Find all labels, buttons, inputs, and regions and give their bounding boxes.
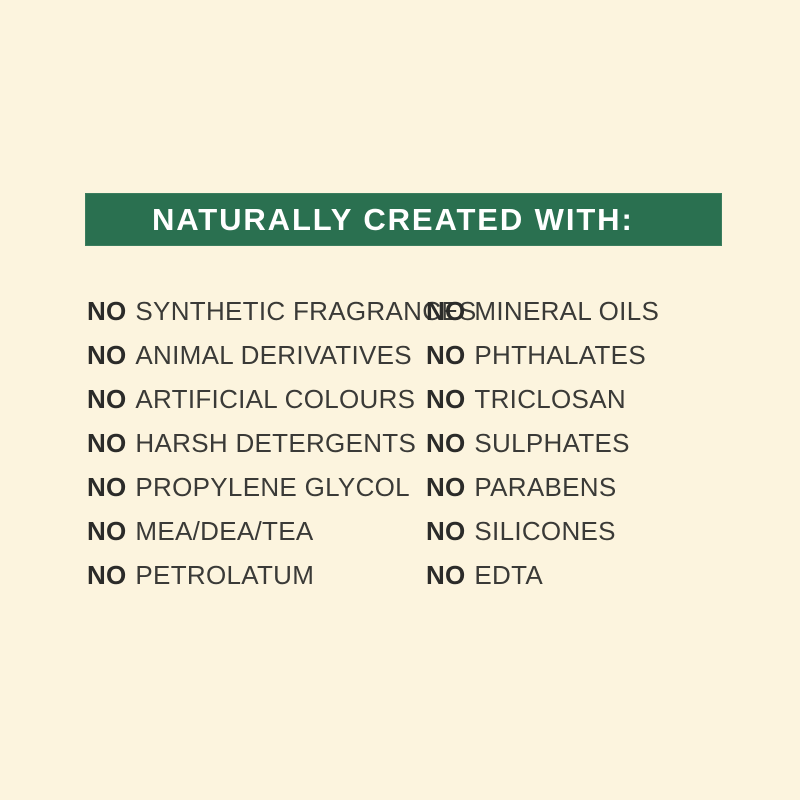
no-prefix: NO: [87, 386, 126, 412]
free-from-list: NO SYNTHETIC FRAGRANCES NO ANIMAL DERIVA…: [0, 289, 800, 597]
ingredient-label: SULPHATES: [474, 430, 629, 456]
list-item: NO ARTIFICIAL COLOURS: [87, 377, 413, 421]
ingredient-label: MEA/DEA/TEA: [135, 518, 313, 544]
page-title: NATURALLY CREATED WITH:: [86, 204, 634, 235]
free-from-list-right-column: NO MINERAL OILS NO PHTHALATES NO TRICLOS…: [413, 289, 800, 597]
ingredient-label: PROPYLENE GLYCOL: [135, 474, 410, 500]
no-prefix: NO: [87, 518, 126, 544]
no-prefix: NO: [426, 562, 465, 588]
no-prefix: NO: [426, 342, 465, 368]
ingredient-label: MINERAL OILS: [474, 298, 659, 324]
ingredient-label: PHTHALATES: [474, 342, 646, 368]
no-prefix: NO: [426, 474, 465, 500]
no-prefix: NO: [426, 298, 465, 324]
list-item: NO PROPYLENE GLYCOL: [87, 465, 413, 509]
no-prefix: NO: [87, 562, 126, 588]
no-prefix: NO: [87, 474, 126, 500]
no-prefix: NO: [426, 386, 465, 412]
list-item: NO HARSH DETERGENTS: [87, 421, 413, 465]
no-prefix: NO: [87, 342, 126, 368]
free-from-list-left-column: NO SYNTHETIC FRAGRANCES NO ANIMAL DERIVA…: [0, 289, 413, 597]
no-prefix: NO: [426, 430, 465, 456]
ingredient-label: SILICONES: [474, 518, 615, 544]
ingredient-label: ANIMAL DERIVATIVES: [135, 342, 412, 368]
list-item: NO TRICLOSAN: [426, 377, 800, 421]
list-item: NO MEA/DEA/TEA: [87, 509, 413, 553]
banner-naturally-created-with: NATURALLY CREATED WITH:: [85, 193, 722, 246]
list-item: NO SULPHATES: [426, 421, 800, 465]
list-item: NO PARABENS: [426, 465, 800, 509]
list-item: NO PHTHALATES: [426, 333, 800, 377]
list-item: NO SYNTHETIC FRAGRANCES: [87, 289, 413, 333]
ingredient-label: PARABENS: [474, 474, 616, 500]
ingredient-label: EDTA: [474, 562, 543, 588]
no-prefix: NO: [87, 298, 126, 324]
list-item: NO EDTA: [426, 553, 800, 597]
list-item: NO ANIMAL DERIVATIVES: [87, 333, 413, 377]
list-item: NO SILICONES: [426, 509, 800, 553]
ingredient-label: TRICLOSAN: [474, 386, 626, 412]
list-item: NO PETROLATUM: [87, 553, 413, 597]
ingredient-label: ARTIFICIAL COLOURS: [135, 386, 415, 412]
no-prefix: NO: [426, 518, 465, 544]
no-prefix: NO: [87, 430, 126, 456]
ingredient-label: HARSH DETERGENTS: [135, 430, 416, 456]
ingredient-label: PETROLATUM: [135, 562, 314, 588]
list-item: NO MINERAL OILS: [426, 289, 800, 333]
ingredient-claims-poster: NATURALLY CREATED WITH: NO SYNTHETIC FRA…: [0, 0, 800, 800]
